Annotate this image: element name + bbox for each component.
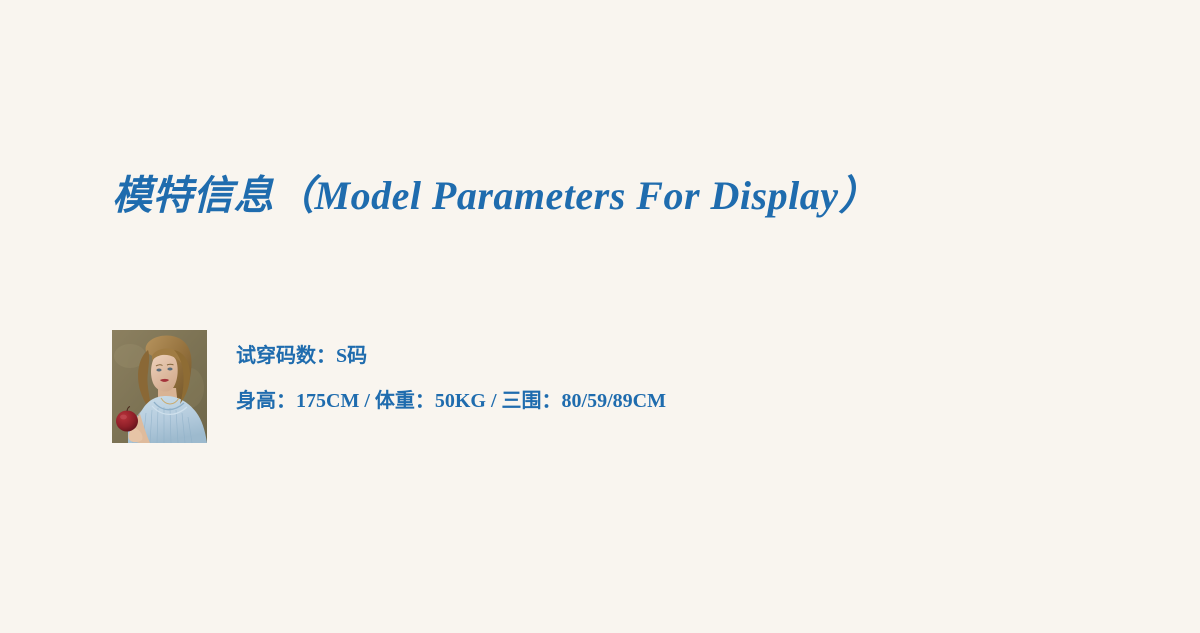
model-size-line: 试穿码数：S码 [236,346,666,366]
model-info-page: 模特信息（Model Parameters For Display） [0,0,1200,633]
model-info-row: 试穿码数：S码 身高：175CM / 体重：50KG / 三围：80/59/89… [112,330,666,443]
model-details: 试穿码数：S码 身高：175CM / 体重：50KG / 三围：80/59/89… [236,330,666,411]
page-title: 模特信息（Model Parameters For Display） [112,172,879,220]
page-title-text: 模特信息（Model Parameters For Display） [112,172,879,220]
model-measurements-line: 身高：175CM / 体重：50KG / 三围：80/59/89CM [236,391,666,411]
model-portrait-photo [112,330,207,443]
model-portrait-illustration [112,330,207,443]
